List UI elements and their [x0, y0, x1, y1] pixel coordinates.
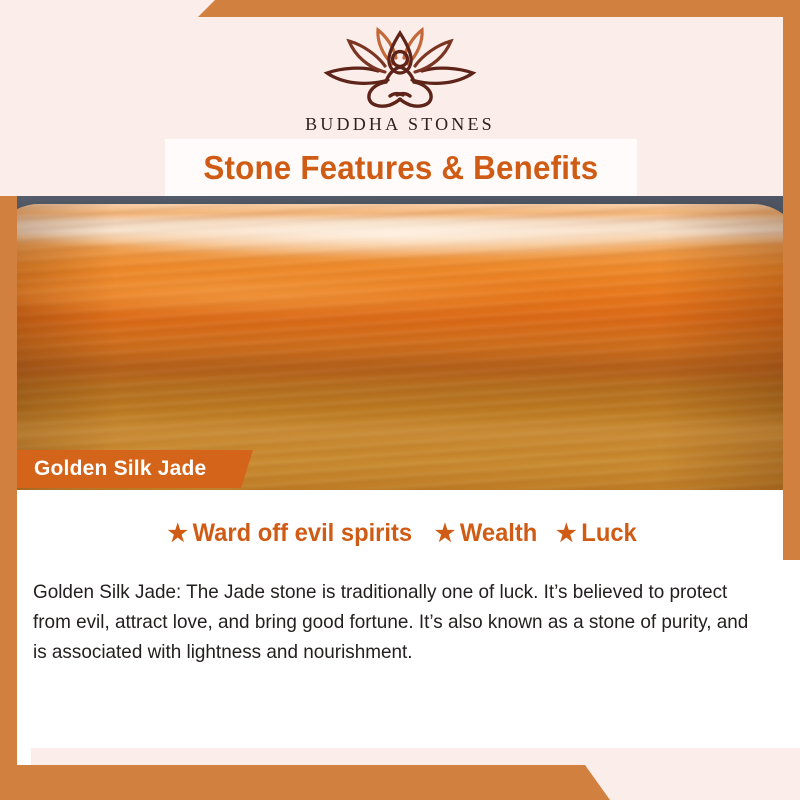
benefit-label-1: Ward off evil spirits [192, 519, 412, 548]
benefit-item-3: ★ Luck [556, 519, 637, 548]
stone-photo [17, 196, 783, 490]
stone-ochre-band [17, 414, 783, 450]
benefit-item-1: ★ Ward off evil spirits [167, 519, 412, 548]
brand-logo: BUDDHA STONES [0, 24, 800, 135]
stone-dark-band [17, 351, 783, 384]
brand-name: BUDDHA STONES [0, 114, 800, 135]
poster-root: BUDDHA STONES Stone Features & Benefits … [0, 0, 800, 800]
star-icon: ★ [167, 522, 187, 546]
stone-top-highlight [33, 219, 760, 258]
lotus-meditation-figure-icon [315, 24, 485, 112]
title-banner: Stone Features & Benefits [165, 139, 637, 196]
stone-name-badge: Golden Silk Jade [17, 450, 253, 488]
stone-mid-highlight [17, 270, 578, 318]
benefits-row: ★ Ward off evil spirits ★ Wealth ★ Luck [0, 519, 800, 548]
benefit-label-2: Wealth [460, 519, 537, 548]
golden-silk-jade-stone-image [17, 204, 783, 490]
stone-name-label: Golden Silk Jade [34, 457, 206, 481]
star-icon: ★ [435, 522, 455, 546]
benefit-label-3: Luck [582, 519, 637, 548]
star-icon: ★ [556, 522, 576, 546]
page-title: Stone Features & Benefits [204, 149, 599, 187]
stone-description: Golden Silk Jade: The Jade stone is trad… [33, 577, 751, 667]
benefit-item-2: ★ Wealth [435, 519, 538, 548]
